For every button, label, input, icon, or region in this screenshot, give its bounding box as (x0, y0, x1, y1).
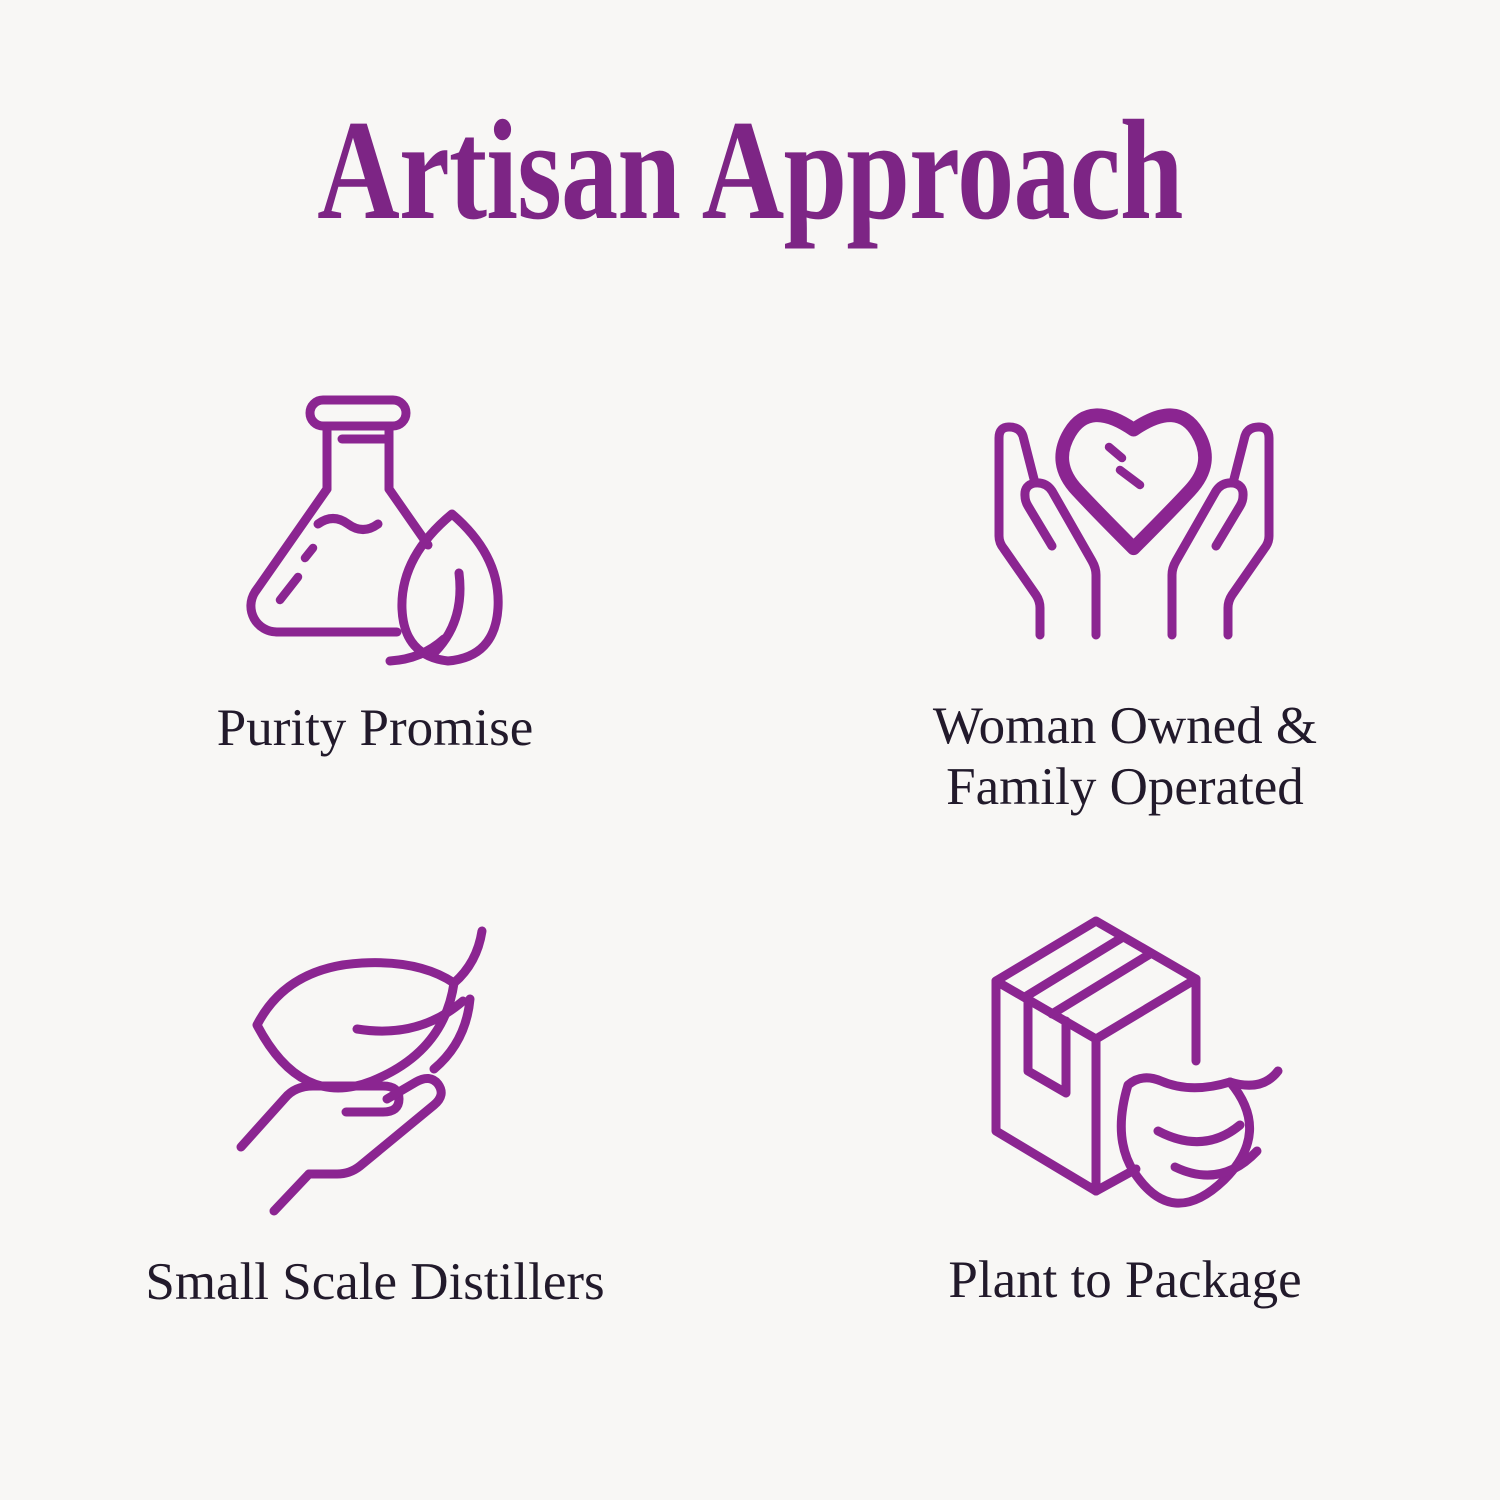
feature-grid: Purity Promise (0, 352, 1500, 1412)
box-leaf-icon (980, 904, 1310, 1204)
feature-label-plant-to-package: Plant to Package (948, 1250, 1301, 1311)
feature-label-purity-promise: Purity Promise (217, 698, 534, 759)
feature-label-small-scale-distillers: Small Scale Distillers (145, 1252, 604, 1313)
flask-leaf-icon (215, 364, 545, 664)
page-title-container: Artisan Approach (0, 96, 1500, 245)
artisan-approach-poster: Artisan Approach (0, 0, 1500, 1500)
feature-item-woman-owned: Woman Owned & Family Operated (750, 352, 1500, 882)
feature-item-plant-to-package: Plant to Package (750, 882, 1500, 1412)
page-title: Artisan Approach (317, 96, 1182, 245)
feature-item-small-scale-distillers: Small Scale Distillers (0, 882, 750, 1412)
feature-label-woman-owned: Woman Owned & Family Operated (933, 696, 1317, 819)
feature-item-purity-promise: Purity Promise (0, 352, 750, 882)
hand-holding-leaf-icon (212, 912, 542, 1212)
hands-holding-heart-icon (969, 370, 1299, 670)
